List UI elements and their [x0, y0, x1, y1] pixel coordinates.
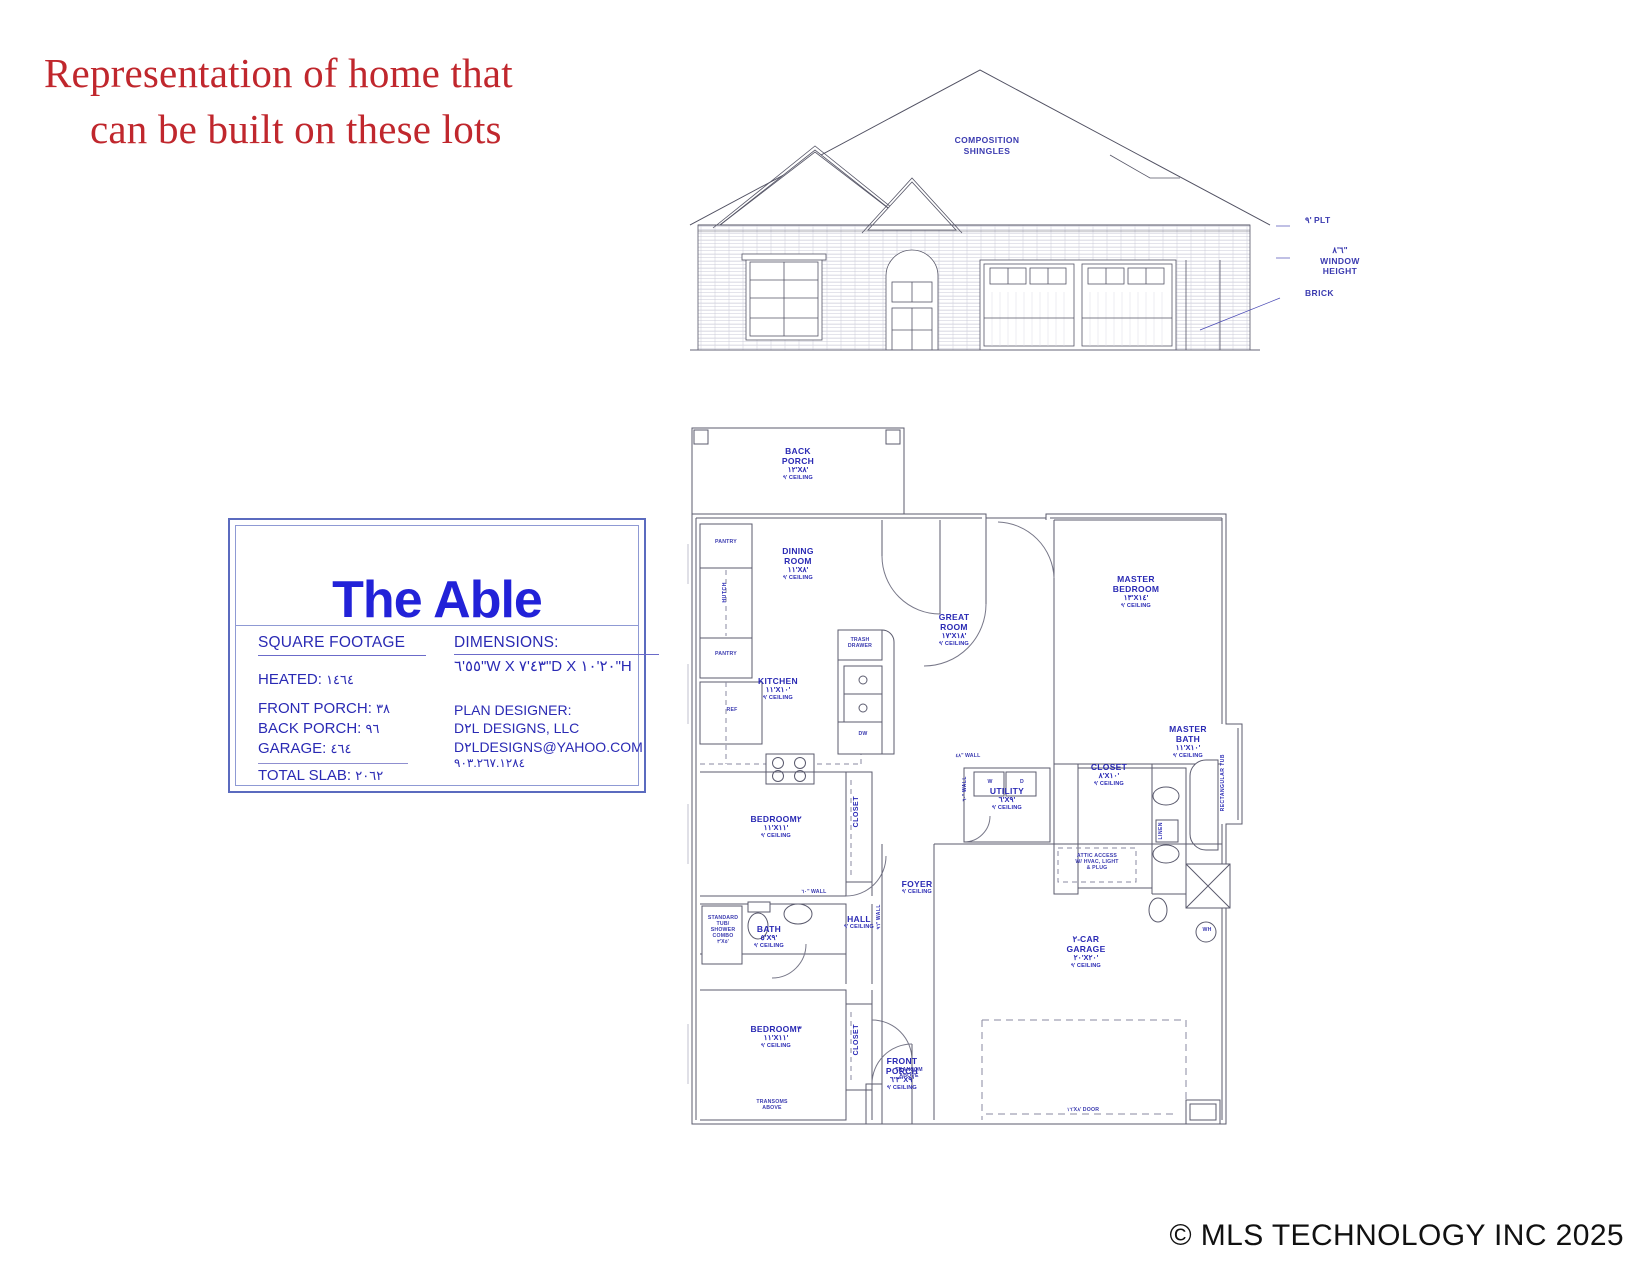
room-label-back-porch: BACK PORCH ١٢'X٨' ٩' CEILING — [748, 446, 848, 481]
room-label-dining-room: DINING ROOM ١١'X٨' ٩' CEILING — [748, 546, 848, 581]
room-label-utility: UTILITY ٦'X٩' ٩' CEILING — [972, 786, 1042, 811]
tag-hutch: HUTCH — [722, 582, 728, 603]
room-label-bedroom-2: BEDROOM٢ ١١'X١١' ٩' CEILING — [728, 814, 824, 839]
room-label-kitchen: KITCHEN ١١'X١٠' ٩' CEILING — [734, 676, 822, 701]
tag-wall-note-2: ٦٠" WALL — [790, 890, 838, 896]
sqft-value-back-porch: ٩٦ — [366, 721, 380, 736]
tag-linen: LINEN — [1158, 822, 1164, 840]
tag-transom-above-foyer: TRANSOM ABOVE — [884, 1068, 934, 1080]
dimensions-value: ٥٥'٦"W X ٤٣'٧"D X ٢٠'١٠"H — [454, 657, 669, 675]
sqft-label-heated: HEATED: — [258, 671, 322, 688]
tag-wall-note-4: ٦٠" WALL — [962, 776, 968, 801]
tag-dryer: D — [1012, 780, 1032, 786]
sqft-row-garage: GARAGE: ٤٦٤ — [258, 739, 443, 759]
tag-pantry-top: PANTRY — [702, 540, 750, 546]
label-plate-height: ٩' PLT — [1305, 215, 1375, 226]
tag-refrigerator: REF — [712, 708, 752, 714]
sqft-label-back-porch: BACK PORCH: — [258, 720, 361, 737]
tag-water-heater: WH — [1198, 928, 1216, 934]
tag-trash-drawer: TRASH DRAWER — [838, 638, 882, 650]
total-slab-rule — [258, 763, 408, 764]
room-label-great-room: GREAT ROOM ١٧'X١٨' ٩' CEILING — [904, 612, 1004, 647]
tag-attic-access: ATTIC ACCESS W/ HVAC, LIGHT & PLUG — [1058, 854, 1136, 872]
copyright-notice: © MLS TECHNOLOGY INC 2025 — [1170, 1219, 1624, 1253]
square-footage-column: SQUARE FOOTAGE HEATED: ١٤٦٤ FRONT PORCH:… — [258, 634, 443, 786]
sqft-value-total-slab: ٢٠٦٢ — [355, 768, 383, 783]
plan-designer-company: D٢L DESIGNS, LLC — [454, 719, 669, 737]
plan-designer-email: D٢LDESIGNS@YAHOO.COM — [454, 738, 669, 756]
room-label-master-bedroom: MASTER BEDROOM ١٣'X١٤' ٩' CEILING — [1086, 574, 1186, 609]
sqft-row-heated: HEATED: ١٤٦٤ — [258, 670, 443, 690]
floor-plan-drawing: BACK PORCH ١٢'X٨' ٩' CEILING DINING ROOM… — [686, 424, 1246, 1138]
sqft-row-front-porch: FRONT PORCH: ٣٨ — [258, 699, 443, 719]
room-label-master-bath: MASTER BATH ١١'X١٠' ٩' CEILING — [1148, 724, 1228, 759]
sqft-value-front-porch: ٣٨ — [376, 701, 390, 716]
label-brick: BRICK — [1305, 288, 1375, 299]
dimensions-column: DIMENSIONS: ٥٥'٦"W X ٤٣'٧"D X ٢٠'١٠"H PL… — [454, 634, 669, 772]
plan-info-plate: The Able SQUARE FOOTAGE HEATED: ١٤٦٤ FRO… — [228, 518, 646, 793]
sqft-label-total-slab: TOTAL SLAB: — [258, 767, 351, 784]
room-label-bedroom-3: BEDROOM٣ ١١'X١١' ٩' CEILING — [728, 1024, 824, 1049]
sqft-label-garage: GARAGE: — [258, 740, 326, 757]
label-window-height: ٦'٨" WINDOW HEIGHT — [1300, 245, 1380, 277]
plan-info-plate-inner: The Able SQUARE FOOTAGE HEATED: ١٤٦٤ FRO… — [235, 525, 639, 786]
sqft-row-back-porch: BACK PORCH: ٩٦ — [258, 719, 443, 739]
sqft-value-garage: ٤٦٤ — [331, 741, 352, 756]
tag-washer: W — [980, 780, 1000, 786]
tag-dishwasher: DW — [844, 732, 882, 738]
sqft-row-total-slab: TOTAL SLAB: ٢٠٦٢ — [258, 766, 443, 786]
tag-wall-note-1: ٤٨" WALL — [944, 754, 992, 760]
tag-wall-note-3: ٩٦" WALL — [876, 904, 882, 929]
plan-designer-heading: PLAN DESIGNER: — [454, 701, 669, 719]
tag-closet-bedroom-3: CLOSET — [853, 1024, 860, 1055]
dimensions-rule — [454, 654, 659, 655]
plan-designer-phone: ٩٠٣.٢٦٧.١٢٨٤ — [454, 756, 669, 772]
tag-tub-shower-combo: STANDARD TUB/ SHOWER COMBO ٣'X٥' — [700, 916, 746, 946]
front-elevation-drawing: COMPOSITION SHINGLES ٩' PLT ٦'٨" WINDOW … — [680, 30, 1300, 390]
room-label-garage: ٢-CAR GARAGE ٢٠'X٢٠' ٩' CEILING — [1038, 934, 1134, 969]
tag-rectangular-tub: RECTANGULAR TUB — [1220, 754, 1226, 811]
tag-pantry-bottom: PANTRY — [702, 652, 750, 658]
tag-transoms-above-bedroom-3: TRANSOMS ABOVE — [744, 1100, 800, 1112]
elevation-svg — [680, 30, 1300, 390]
spacer — [258, 690, 443, 699]
sqft-label-front-porch: FRONT PORCH: — [258, 700, 372, 717]
square-footage-rule — [258, 655, 426, 656]
dimensions-heading: DIMENSIONS: — [454, 634, 669, 652]
tag-closet-bedroom-2: CLOSET — [853, 796, 860, 827]
square-footage-heading: SQUARE FOOTAGE — [258, 634, 443, 652]
room-label-foyer: FOYER ٩' CEILING — [882, 879, 952, 896]
spacer — [454, 675, 669, 701]
tag-garage-door: ١٦'X٨' DOOR — [1038, 1108, 1128, 1114]
label-composition-shingles: COMPOSITION SHINGLES — [932, 135, 1042, 156]
plan-name: The Able — [236, 574, 638, 626]
room-label-master-closet: CLOSET ٨'X١٠' ٩' CEILING — [1074, 762, 1144, 787]
sqft-value-heated: ١٤٦٤ — [326, 672, 354, 687]
